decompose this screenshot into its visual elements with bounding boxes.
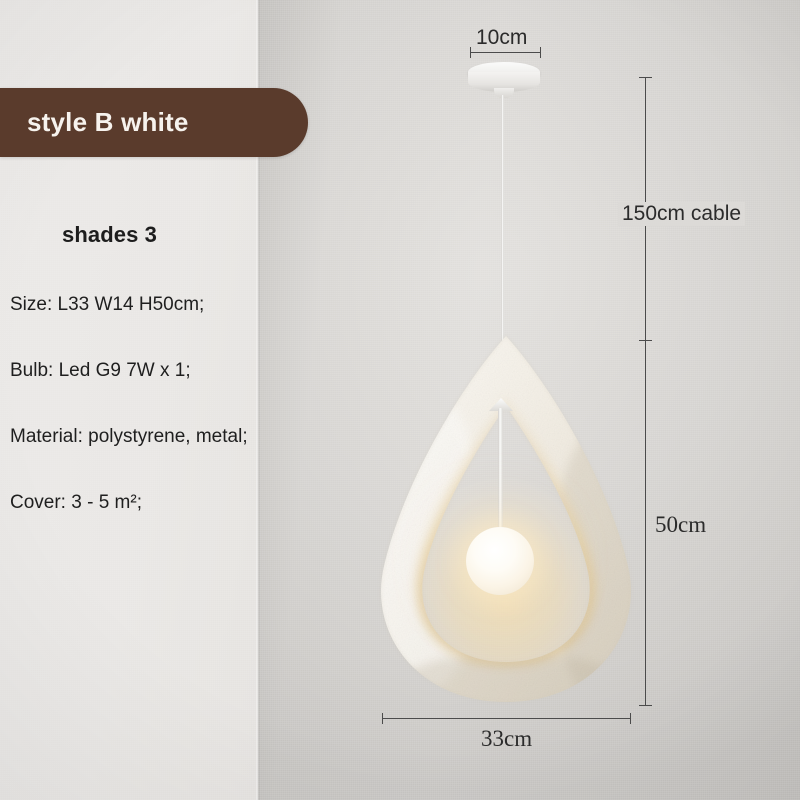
dimension-label-canopy-width: 10cm	[476, 26, 527, 50]
dimension-line-shade-width	[382, 718, 630, 719]
dimension-tick-shade-left	[382, 713, 383, 724]
dimension-label-shade-width: 33cm	[481, 726, 532, 752]
spec-cover: Cover: 3 - 5 m²;	[10, 493, 310, 512]
spec-material: Material: polystyrene, metal;	[10, 427, 310, 446]
bulb-rod	[498, 408, 503, 528]
dimension-label-shade-height: 50cm	[655, 512, 706, 538]
spec-size: Size: L33 W14 H50cm;	[10, 295, 310, 314]
teardrop-shade-icon	[372, 330, 640, 708]
globe-bulb-icon	[466, 527, 534, 595]
variant-title: shades 3	[62, 222, 157, 248]
dimension-tick-canopy-left	[470, 47, 471, 58]
dimension-tick-canopy-right	[540, 47, 541, 58]
dimension-line-canopy-width	[470, 52, 540, 53]
dimension-tick-shade-bottom	[639, 705, 652, 706]
specification-list: Size: L33 W14 H50cm; Bulb: Led G9 7W x 1…	[10, 295, 310, 559]
dimension-label-cable-length: 150cm cable	[618, 202, 745, 226]
dimension-tick-cable-top	[639, 77, 652, 78]
product-image-scene: style B white shades 3 Size: L33 W14 H50…	[0, 0, 800, 800]
spec-bulb: Bulb: Led G9 7W x 1;	[10, 361, 310, 380]
style-badge-label: style B white	[0, 107, 189, 138]
dimension-line-shade-height	[645, 340, 646, 705]
dimension-tick-shade-right	[630, 713, 631, 724]
hanging-cable-icon	[501, 95, 504, 343]
style-badge: style B white	[0, 88, 308, 157]
teardrop-shade-svg	[372, 330, 640, 708]
